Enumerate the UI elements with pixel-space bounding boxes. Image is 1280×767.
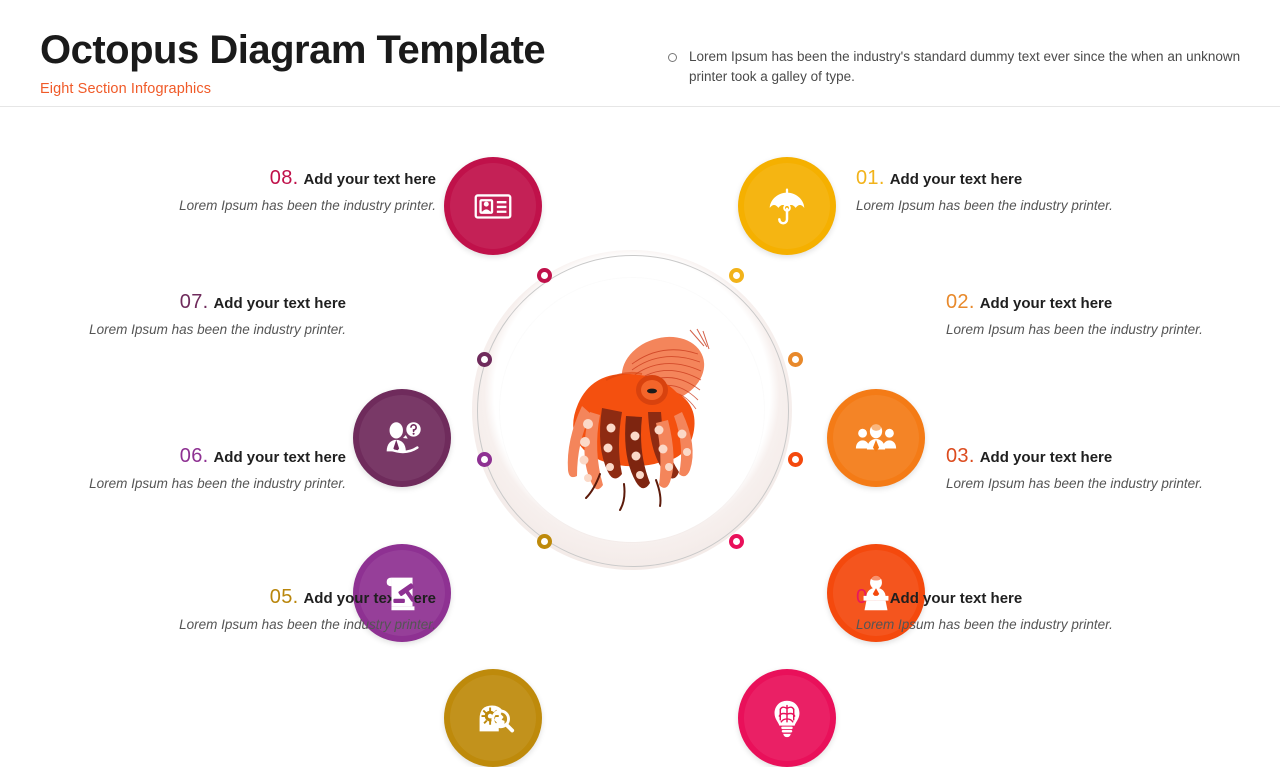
item-text-02: 02.Add your text here Lorem Ipsum has be… [946,291,1216,339]
item-heading-06: 06.Add your text here [76,445,346,469]
item-text-07: 07.Add your text here Lorem Ipsum has be… [76,291,346,339]
item-title-01: Add your text here [890,171,1023,188]
bubble-08[interactable] [444,157,542,255]
item-description-07: Lorem Ipsum has been the industry printe… [76,320,346,339]
brain-bulb-icon [764,695,810,741]
node-dot-03 [788,452,803,467]
bubble-disc-04[interactable] [738,669,836,767]
team-people-icon [853,415,899,461]
item-heading-08: 08.Add your text here [166,167,436,191]
item-heading-01: 01.Add your text here [856,167,1126,191]
page-title: Octopus Diagram Template [40,27,545,73]
octopus-illustration [540,312,730,512]
item-title-08: Add your text here [303,171,436,188]
bubble-05[interactable] [444,669,542,767]
speaker-podium-icon [853,570,899,616]
bubble-04[interactable] [738,669,836,767]
node-dot-04 [729,534,744,549]
item-text-08: 08.Add your text here Lorem Ipsum has be… [166,167,436,215]
item-number-06: 06. [180,445,209,467]
page-header: Octopus Diagram Template Eight Section I… [0,0,1280,107]
header-note: Lorem Ipsum has been the industry's stan… [668,47,1258,87]
item-text-01: 01.Add your text here Lorem Ipsum has be… [856,167,1126,215]
item-heading-03: 03.Add your text here [946,445,1216,469]
octopus-diagram: 08.Add your text here Lorem Ipsum has be… [0,107,1280,720]
umbrella-icon [764,183,810,229]
item-description-04: Lorem Ipsum has been the industry printe… [856,615,1126,634]
item-number-08: 08. [270,167,299,189]
item-heading-02: 02.Add your text here [946,291,1216,315]
node-dot-08 [537,268,552,283]
item-text-06: 06.Add your text here Lorem Ipsum has be… [76,445,346,493]
item-number-01: 01. [856,167,885,189]
id-card-icon [470,183,516,229]
item-description-01: Lorem Ipsum has been the industry printe… [856,196,1126,215]
node-dot-01 [729,268,744,283]
item-title-02: Add your text here [980,295,1113,312]
bubble-disc-08[interactable] [444,157,542,255]
item-title-06: Add your text here [213,449,346,466]
bubble-disc-07[interactable] [353,389,451,487]
circle-bullet-icon [668,53,677,62]
bubble-01[interactable] [738,157,836,255]
header-note-text: Lorem Ipsum has been the industry's stan… [689,47,1258,87]
item-description-03: Lorem Ipsum has been the industry printe… [946,474,1216,493]
head-gear-search-icon [470,695,516,741]
item-text-03: 03.Add your text here Lorem Ipsum has be… [946,445,1216,493]
node-dot-07 [477,352,492,367]
node-dot-05 [537,534,552,549]
bubble-disc-01[interactable] [738,157,836,255]
node-dot-06 [477,452,492,467]
node-dot-02 [788,352,803,367]
item-title-07: Add your text here [213,295,346,312]
item-number-05: 05. [270,586,299,608]
item-number-02: 02. [946,291,975,313]
item-description-08: Lorem Ipsum has been the industry printe… [166,196,436,215]
item-description-05: Lorem Ipsum has been the industry printe… [166,615,436,634]
legal-document-gavel-icon [379,570,425,616]
page-subtitle: Eight Section Infographics [40,81,545,97]
title-block: Octopus Diagram Template Eight Section I… [40,27,545,97]
item-title-03: Add your text here [980,449,1113,466]
item-description-02: Lorem Ipsum has been the industry printe… [946,320,1216,339]
item-heading-07: 07.Add your text here [76,291,346,315]
person-question-icon [379,415,425,461]
bubble-disc-02[interactable] [827,389,925,487]
item-title-04: Add your text here [890,590,1023,607]
bubble-02[interactable] [827,389,925,487]
bubble-disc-05[interactable] [444,669,542,767]
item-number-03: 03. [946,445,975,467]
bubble-07[interactable] [353,389,451,487]
item-number-07: 07. [180,291,209,313]
item-description-06: Lorem Ipsum has been the industry printe… [76,474,346,493]
